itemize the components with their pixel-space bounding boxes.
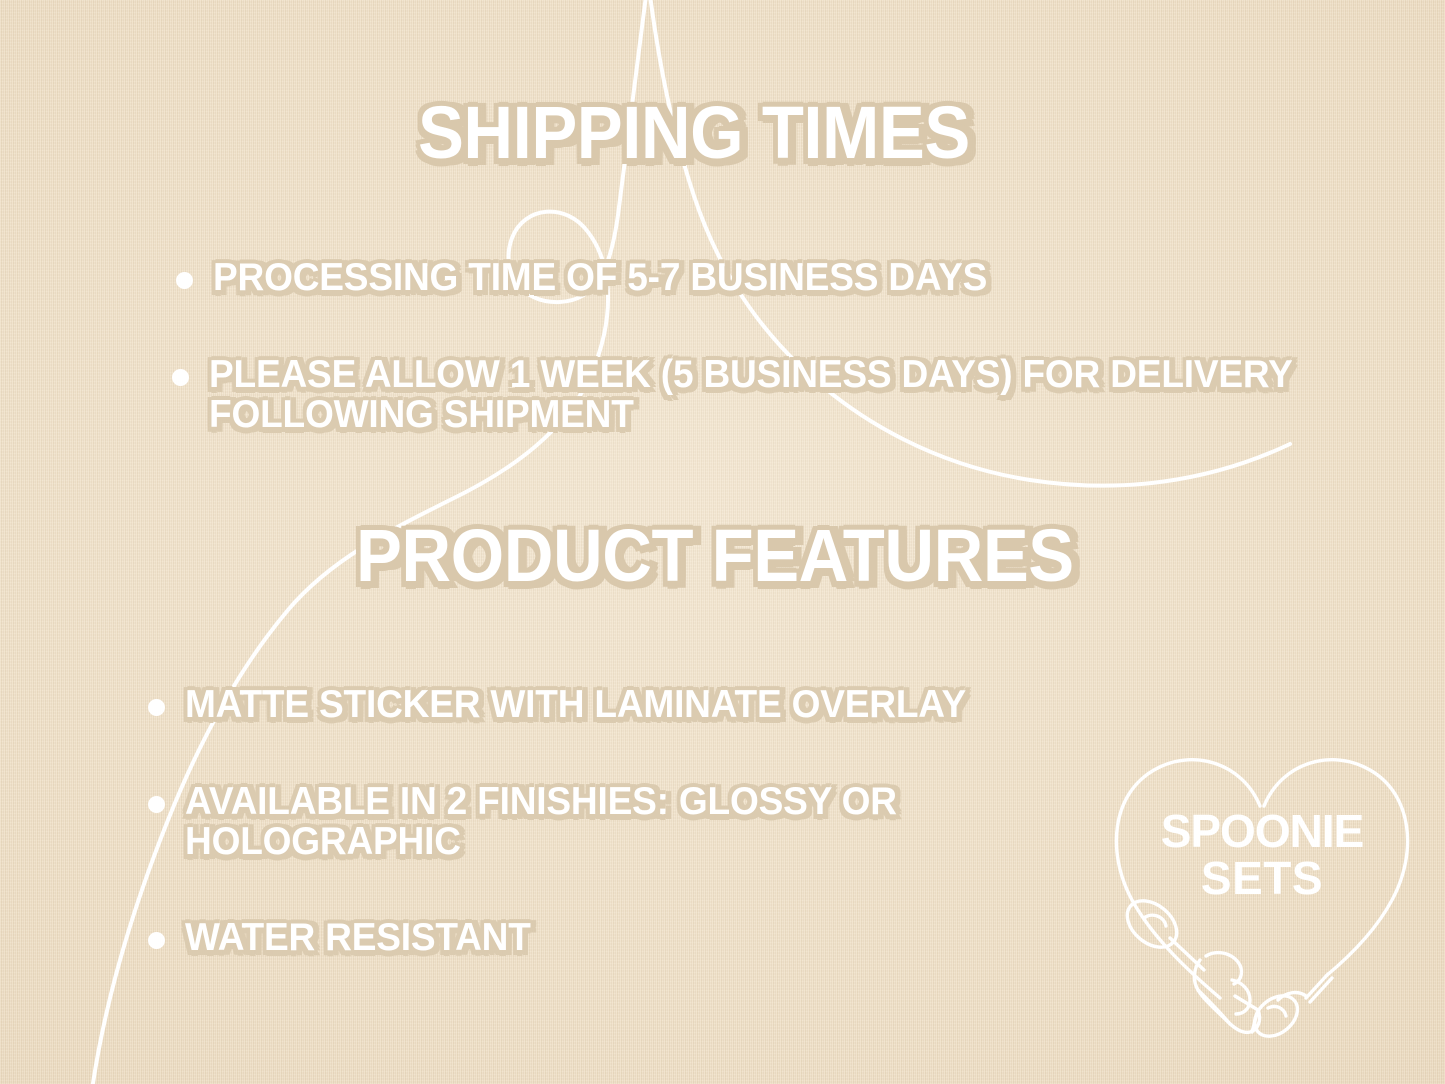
logo-wordmark: SPOONIE SETS: [1092, 808, 1432, 902]
list-item-label: WATER RESISTANT: [185, 918, 531, 958]
list-item-label: MATTE STICKER WITH LAMINATE OVERLAY: [185, 685, 966, 725]
list-item: WATER RESISTANT: [148, 918, 848, 958]
bullet-dot-icon: [148, 796, 165, 813]
bullet-dot-icon: [172, 369, 189, 386]
list-item-label: PLEASE ALLOW 1 WEEK (5 BUSINESS DAYS) FO…: [209, 355, 1304, 435]
poster-canvas: .deco-line path { fill: none; stroke: #f…: [0, 0, 1445, 1084]
logo-line-2: SETS: [1092, 855, 1432, 902]
list-item: PROCESSING TIME OF 5-7 BUSINESS DAYS: [176, 258, 1296, 298]
logo-line-1: SPOONIE: [1092, 808, 1432, 855]
list-item: MATTE STICKER WITH LAMINATE OVERLAY: [148, 685, 1258, 725]
section-heading-shipping-times: SHIPPING TIMES: [418, 96, 970, 170]
bullet-dot-icon: [148, 699, 165, 716]
list-item: PLEASE ALLOW 1 WEEK (5 BUSINESS DAYS) FO…: [172, 355, 1362, 435]
spoonie-sets-logo: SPOONIE SETS: [1092, 742, 1432, 1072]
bullet-dot-icon: [176, 272, 193, 289]
list-item-label: PROCESSING TIME OF 5-7 BUSINESS DAYS: [213, 258, 987, 298]
list-item-label: AVAILABLE IN 2 FINISHIES: GLOSSY OR HOLO…: [185, 782, 1090, 862]
list-item: AVAILABLE IN 2 FINISHIES: GLOSSY OR HOLO…: [148, 782, 1138, 862]
section-heading-product-features: PRODUCT FEATURES: [356, 519, 1074, 593]
bullet-dot-icon: [148, 932, 165, 949]
heart-spoons-icon: [1092, 742, 1432, 1072]
poster-content: SHIPPING TIMES PROCESSING TIME OF 5-7 BU…: [0, 0, 1445, 1084]
